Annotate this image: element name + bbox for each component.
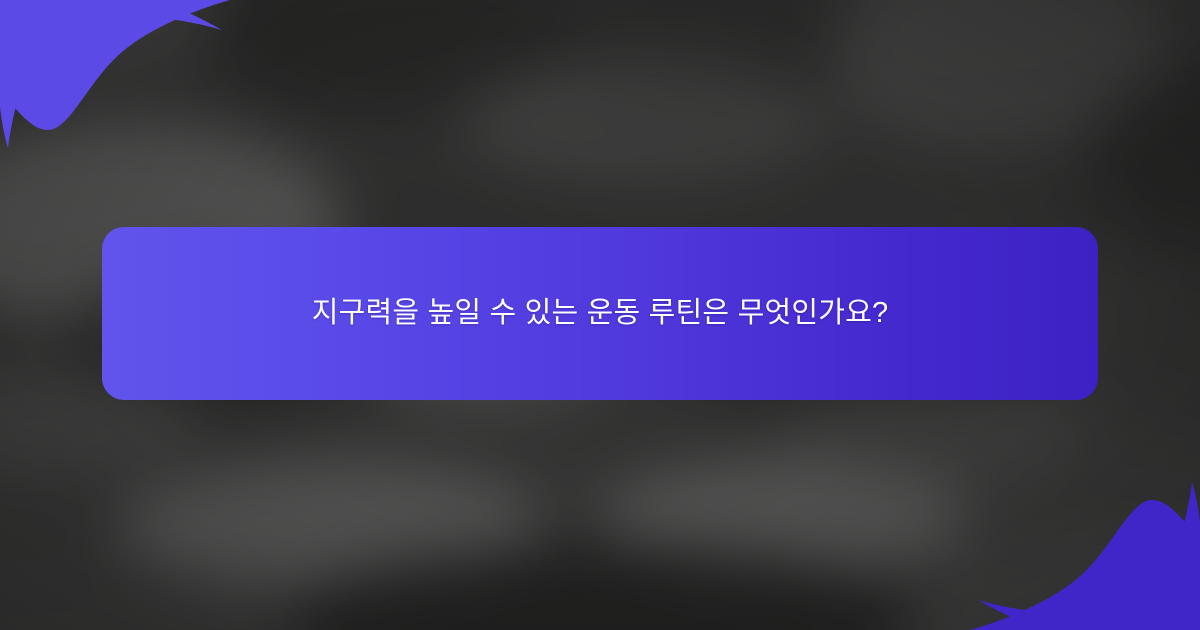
og-share-card: 지구력을 높일 수 있는 운동 루틴은 무엇인가요?	[0, 0, 1200, 630]
question-text: 지구력을 높일 수 있는 운동 루틴은 무엇인가요?	[312, 294, 889, 333]
question-card: 지구력을 높일 수 있는 운동 루틴은 무엇인가요?	[102, 227, 1098, 400]
